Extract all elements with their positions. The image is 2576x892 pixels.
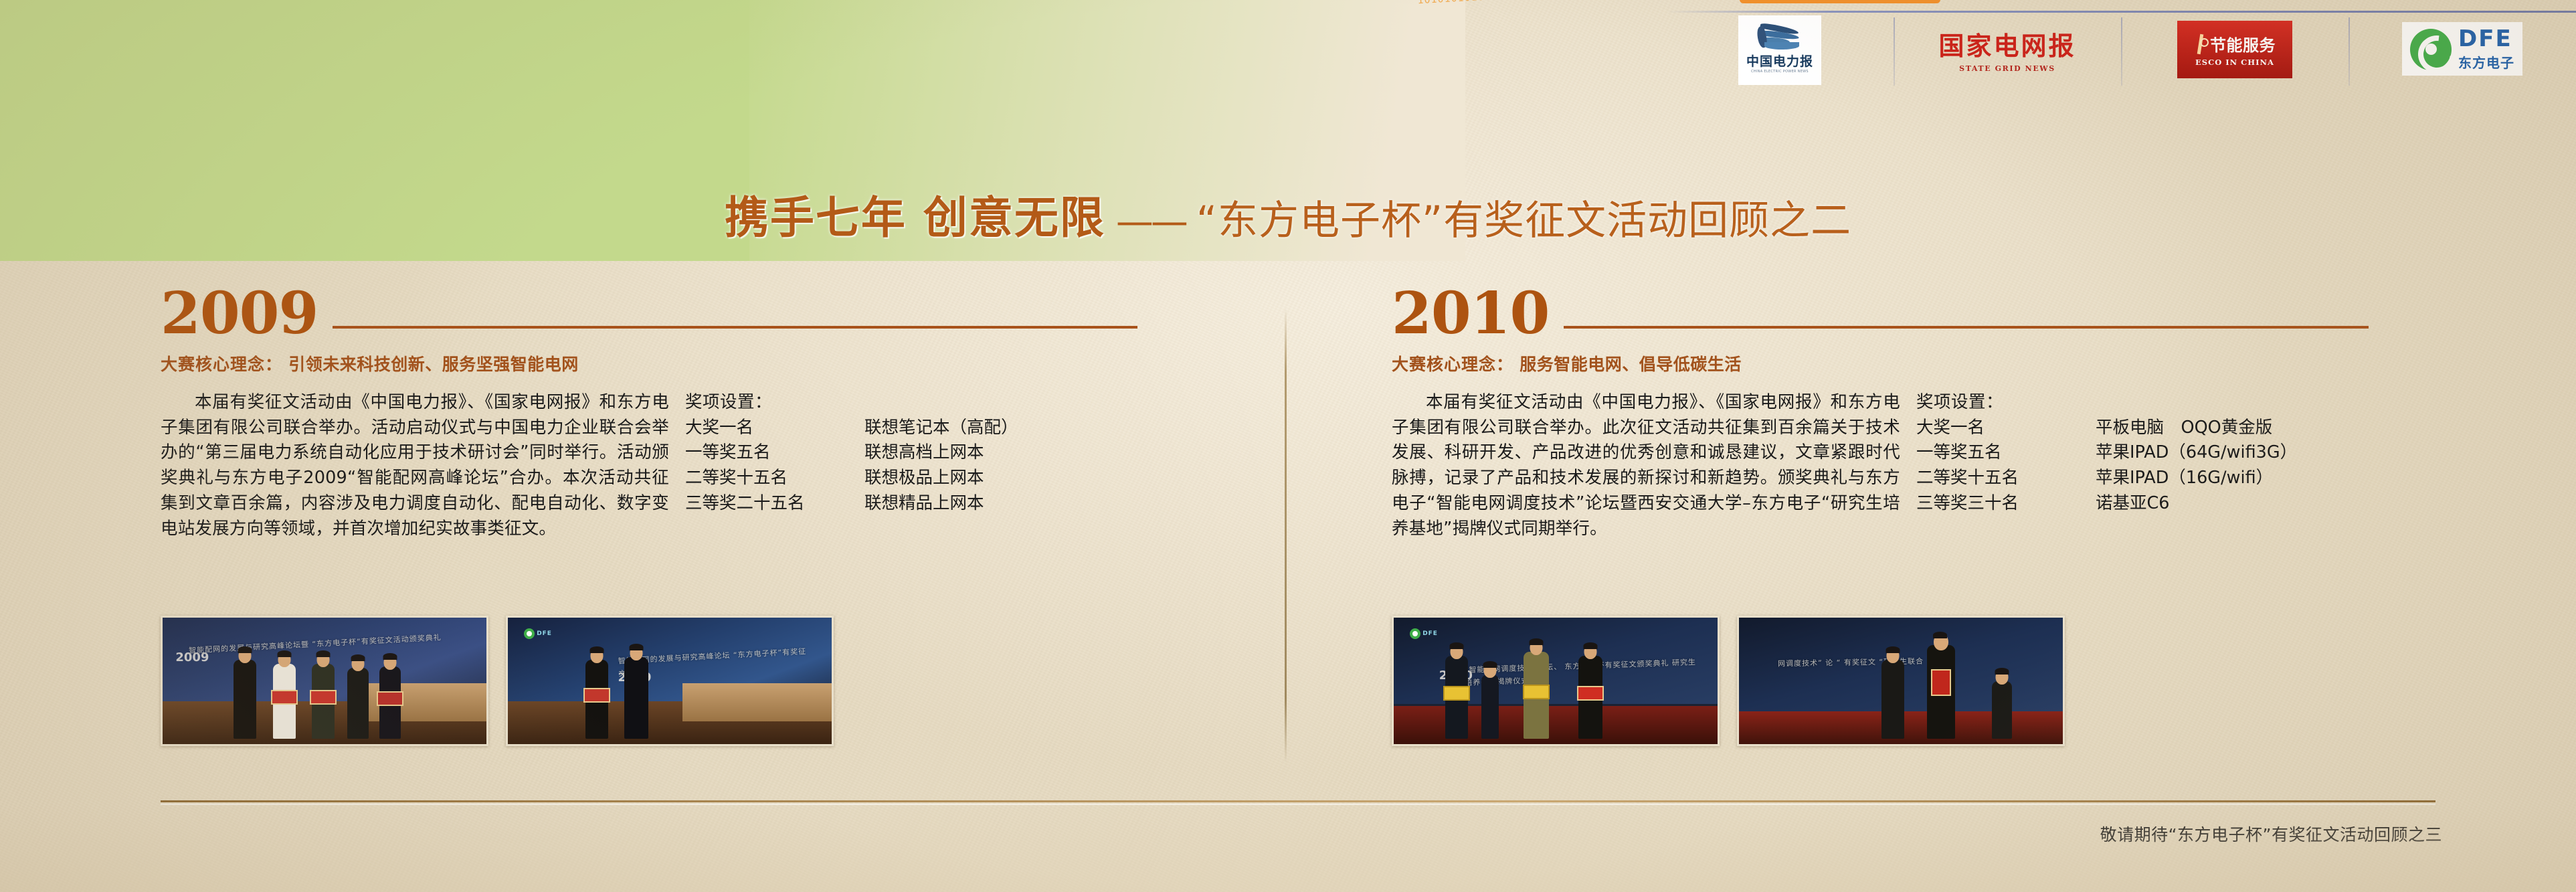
award-rank: 大奖一名 [1916, 416, 2096, 441]
logo-1-zh: 中国电力报 [1746, 52, 1813, 70]
award-prize: 联想精品上网本 [864, 491, 984, 517]
section-2010-core-value: 服务智能电网、倡导低碳生活 [1520, 355, 1742, 374]
award-prize: 联想高档上网本 [864, 440, 984, 466]
award-rank: 三等奖三十名 [1916, 491, 2096, 517]
award-row: 三等奖三十名 诺基亚C6 [1916, 491, 2297, 517]
logo-china-electric-power-news[interactable]: 中国电力报 CHINA ELECTRIC POWER NEWS [1666, 0, 1894, 86]
section-2009-core-value: 引领未来科技创新、服务坚强智能电网 [288, 355, 579, 374]
section-2010-paragraph: 本届有奖征文活动由《中国电力报》、《国家电网报》和东方电子集团有限公司联合举办。… [1392, 390, 1900, 541]
section-2009-photo-band: 2009 智能配网的发展与研究高峰论坛暨 “东方电子杯”有奖征文活动颁奖典礼 [161, 616, 1137, 746]
page-title-dash: —— [1116, 200, 1186, 244]
logo-3-zh: 节能服务 [2210, 32, 2276, 56]
award-row: 二等奖十五名 联想极品上网本 [685, 466, 1018, 491]
dfe-watermark-icon: DFE [524, 628, 555, 640]
award-row: 一等奖五名 联想高档上网本 [685, 440, 1018, 466]
logo-esco-in-china[interactable]: 节能服务 ESCO IN CHINA [2121, 0, 2349, 86]
section-2009: 2009 大赛核心理念： 引领未来科技创新、服务坚强智能电网 本届有奖征文活动由… [161, 278, 1137, 541]
award-row: 一等奖五名 苹果IPAD（64G∕wifi3G） [1916, 440, 2297, 466]
award-rank: 大奖一名 [685, 416, 864, 441]
photo-2009-ceremony-group[interactable]: 2009 智能配网的发展与研究高峰论坛暨 “东方电子杯”有奖征文活动颁奖典礼 [161, 616, 488, 746]
logo-state-grid-news[interactable]: 国家电网报 STATE GRID NEWS [1894, 0, 2121, 86]
section-2010-awards: 奖项设置： 大奖一名 平板电脑 OQO黄金版 一等奖五名 苹果IPAD（64G∕… [1916, 390, 2297, 541]
award-row: 三等奖二十五名 联想精品上网本 [685, 491, 1018, 517]
award-prize: 诺基亚C6 [2096, 491, 2170, 517]
award-rank: 一等奖五名 [1916, 440, 2096, 466]
award-rank: 一等奖五名 [685, 440, 864, 466]
section-2009-core-label: 大赛核心理念： [161, 355, 282, 374]
footer-note: 敬请期待“东方电子杯”有奖征文活动回顾之三 [2100, 822, 2442, 846]
photo-2010-award-handover[interactable]: 网调度技术” 论 “ 有奖征文 “研究生联合 2010 [1737, 616, 2065, 746]
award-prize: 平板电脑 OQO黄金版 [2096, 416, 2272, 441]
award-row: 大奖一名 平板电脑 OQO黄金版 [1916, 416, 2297, 441]
section-2010-year: 2010 [1392, 288, 1549, 339]
logo-dongfang-electronics[interactable]: DFE 东方电子 [2349, 0, 2576, 86]
china-electric-power-news-mark-icon [1756, 19, 1803, 50]
sponsor-logo-strip: 中国电力报 CHINA ELECTRIC POWER NEWS 国家电网报 ST… [1666, 0, 2576, 86]
award-rank: 二等奖十五名 [685, 466, 864, 491]
photo-2009-ceremony-pair[interactable]: DFE 2009 智能配网的发展与研究高峰论坛 “东方电子杯”有奖征文 [506, 616, 834, 746]
bottom-rule-highlight [161, 804, 2435, 805]
section-2009-awards-header: 奖项设置： [685, 390, 1018, 416]
section-2010-core-label: 大赛核心理念： [1392, 355, 1513, 374]
section-2009-core-idea: 大赛核心理念： 引领未来科技创新、服务坚强智能电网 [161, 351, 1137, 375]
section-2010-year-rule [1564, 326, 2369, 329]
bottom-shade [0, 805, 2576, 892]
photo-2010-ceremony-group[interactable]: DFE 2010 “智能电网调度技术”论坛、 东方电子杯有奖征文颁奖典礼 研究生… [1392, 616, 1720, 746]
page-title-sub: “东方电子杯”有奖征文活动回顾之二 [1196, 188, 1851, 246]
award-prize: 苹果IPAD（64G∕wifi3G） [2096, 440, 2297, 466]
page-title: 携手七年 创意无限 —— “东方电子杯”有奖征文活动回顾之二 [0, 182, 2576, 246]
section-2010: 2010 大赛核心理念： 服务智能电网、倡导低碳生活 本届有奖征文活动由《中国电… [1392, 278, 2369, 541]
section-2009-year-rule [333, 326, 1137, 329]
logo-1-en: CHINA ELECTRIC POWER NEWS [1751, 70, 1809, 74]
logo-2-en: STATE GRID NEWS [1938, 64, 2076, 73]
award-prize: 苹果IPAD（16G∕wifi） [2096, 466, 2273, 491]
logo-3-en: ESCO IN CHINA [2195, 58, 2274, 67]
page-title-main: 携手七年 创意无限 [725, 182, 1105, 246]
section-2009-year-row: 2009 [161, 278, 1137, 339]
award-prize: 联想笔记本（高配） [864, 416, 1018, 441]
logo-4-zh: 东方电子 [2458, 52, 2514, 72]
section-2010-photo-band: DFE 2010 “智能电网调度技术”论坛、 东方电子杯有奖征文颁奖典礼 研究生… [1392, 616, 2369, 746]
award-rank: 三等奖二十五名 [685, 491, 864, 517]
section-2010-year-row: 2010 [1392, 278, 2369, 339]
poster-canvas: 1010101010101010101010101010101010101010… [0, 0, 2576, 892]
bottom-rule [161, 800, 2435, 802]
section-2010-core-idea: 大赛核心理念： 服务智能电网、倡导低碳生活 [1392, 351, 2369, 375]
section-2009-year: 2009 [161, 288, 318, 339]
section-2009-awards: 奖项设置： 大奖一名 联想笔记本（高配） 一等奖五名 联想高档上网本 二等奖十五… [685, 390, 1018, 541]
logo-4-en: DFE [2458, 27, 2514, 50]
dfe-swirl-icon [2410, 29, 2452, 70]
section-2009-paragraph: 本届有奖征文活动由《中国电力报》、《国家电网报》和东方电子集团有限公司联合举办。… [161, 390, 669, 541]
logo-2-zh: 国家电网报 [1938, 25, 2076, 62]
award-rank: 二等奖十五名 [1916, 466, 2096, 491]
esco-mark-icon [2194, 34, 2209, 54]
section-2010-awards-header: 奖项设置： [1916, 390, 2297, 416]
dfe-watermark-icon: DFE [1410, 628, 1441, 640]
award-prize: 联想极品上网本 [864, 466, 984, 491]
award-row: 二等奖十五名 苹果IPAD（16G∕wifi） [1916, 466, 2297, 491]
award-row: 大奖一名 联想笔记本（高配） [685, 416, 1018, 441]
